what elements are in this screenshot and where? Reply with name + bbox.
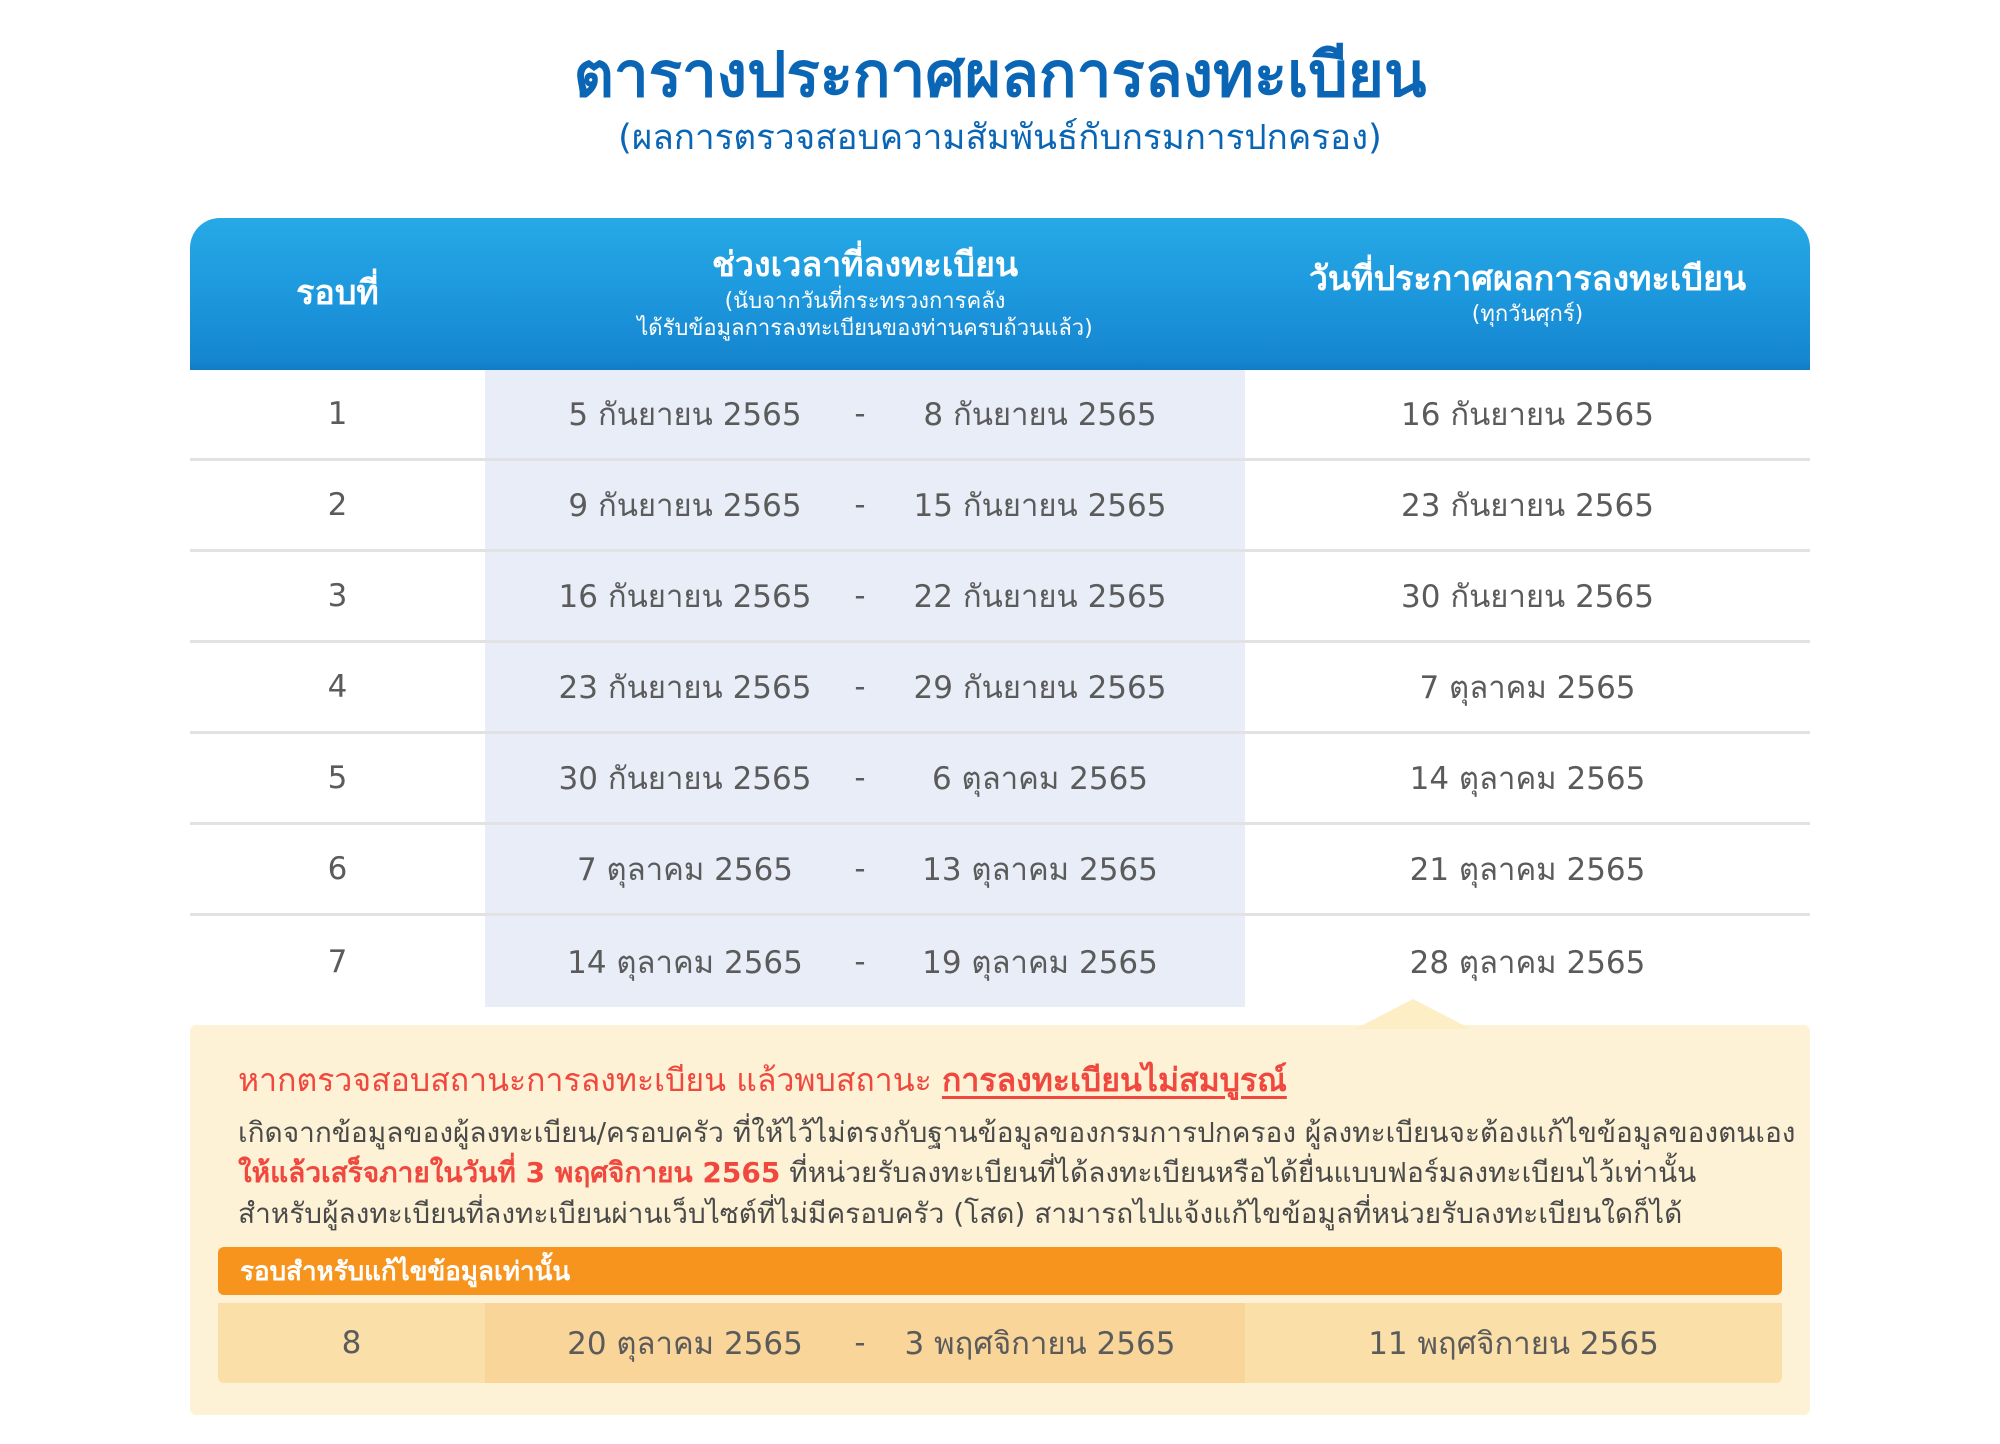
row-date-from: 5 กันยายน 2565: [540, 389, 830, 439]
row-date-to: 15 กันยายน 2565: [890, 480, 1190, 530]
row-announce-date: 30 กันยายน 2565: [1245, 571, 1810, 621]
row-round-number: 5: [190, 760, 485, 796]
callout-headline-emphasis: การลงทะเบียนไม่สมบูรณ์: [942, 1061, 1287, 1099]
row-dash: -: [830, 396, 890, 432]
column-header-round: รอบที่: [190, 273, 485, 314]
row-announce-date: 21 ตุลาคม 2565: [1245, 844, 1810, 894]
row-date-from: 7 ตุลาคม 2565: [540, 844, 830, 894]
row-date-from: 23 กันยายน 2565: [540, 662, 830, 712]
row-round-number: 7: [190, 944, 485, 980]
table-row-8: 8 20 ตุลาคม 2565 - 3 พฤศจิกายน 2565 11 พ…: [218, 1303, 1782, 1383]
row-period: 5 กันยายน 2565-8 กันยายน 2565: [485, 389, 1245, 439]
row-date-to: 6 ตุลาคม 2565: [890, 753, 1190, 803]
row-announce-date: 7 ตุลาคม 2565: [1245, 662, 1810, 712]
column-header-announce-label: วันที่ประกาศผลการลงทะเบียน: [1251, 259, 1804, 300]
row8-period: 20 ตุลาคม 2565 - 3 พฤศจิกายน 2565: [485, 1318, 1245, 1368]
column-header-period-note-line2: ได้รับข้อมูลการลงทะเบียนของท่านครบถ้วนแล…: [491, 316, 1239, 343]
row-date-to: 19 ตุลาคม 2565: [890, 937, 1190, 987]
column-header-period-label: ช่วงเวลาที่ลงทะเบียน: [491, 245, 1239, 286]
row8-date-from: 20 ตุลาคม 2565: [540, 1318, 830, 1368]
registration-schedule-infographic: ตารางประกาศผลการลงทะเบียน (ผลการตรวจสอบค…: [0, 0, 2000, 1444]
row-round-number: 4: [190, 669, 485, 705]
row-round-number: 2: [190, 487, 485, 523]
table-row: 423 กันยายน 2565-29 กันยายน 25657 ตุลาคม…: [190, 643, 1810, 734]
row-announce-date: 23 กันยายน 2565: [1245, 480, 1810, 530]
correction-round-banner-label: รอบสำหรับแก้ไขข้อมูลเท่านั้น: [240, 1251, 570, 1292]
callout-body-line-3: สำหรับผู้ลงทะเบียนที่ลงทะเบียนผ่านเว็บไซ…: [238, 1194, 1778, 1234]
table-header-row: รอบที่ ช่วงเวลาที่ลงทะเบียน (นับจากวันที…: [190, 218, 1810, 370]
row-dash: -: [830, 669, 890, 705]
column-header-period-note-line1: (นับจากวันที่กระทรวงการคลัง: [491, 289, 1239, 316]
row8-date-to: 3 พฤศจิกายน 2565: [890, 1318, 1190, 1368]
row-dash: -: [830, 851, 890, 887]
table-row: 714 ตุลาคม 2565-19 ตุลาคม 256528 ตุลาคม …: [190, 916, 1810, 1007]
row-period: 16 กันยายน 2565-22 กันยายน 2565: [485, 571, 1245, 621]
table-row: 67 ตุลาคม 2565-13 ตุลาคม 256521 ตุลาคม 2…: [190, 825, 1810, 916]
callout-body-line-2-rest: ที่หน่วยรับลงทะเบียนที่ได้ลงทะเบียนหรือไ…: [780, 1156, 1696, 1189]
table-body: 15 กันยายน 2565-8 กันยายน 256516 กันยายน…: [190, 370, 1810, 1007]
row-period: 14 ตุลาคม 2565-19 ตุลาคม 2565: [485, 937, 1245, 987]
table-row: 316 กันยายน 2565-22 กันยายน 256530 กันยา…: [190, 552, 1810, 643]
row-period: 23 กันยายน 2565-29 กันยายน 2565: [485, 662, 1245, 712]
callout-deadline-emphasis: ให้แล้วเสร็จภายในวันที่ 3 พฤศจิกายน 2565: [238, 1156, 780, 1189]
correction-round-banner: รอบสำหรับแก้ไขข้อมูลเท่านั้น: [218, 1247, 1782, 1295]
column-header-period: ช่วงเวลาที่ลงทะเบียน (นับจากวันที่กระทรว…: [485, 245, 1245, 342]
row-date-from: 14 ตุลาคม 2565: [540, 937, 830, 987]
column-header-announce: วันที่ประกาศผลการลงทะเบียน (ทุกวันศุกร์): [1245, 259, 1810, 329]
row-date-to: 29 กันยายน 2565: [890, 662, 1190, 712]
callout-headline: หากตรวจสอบสถานะการลงทะเบียน แล้วพบสถานะ …: [238, 1055, 1287, 1106]
row-date-to: 8 กันยายน 2565: [890, 389, 1190, 439]
callout-headline-prefix: หากตรวจสอบสถานะการลงทะเบียน แล้วพบสถานะ: [238, 1061, 942, 1099]
row-dash: -: [830, 944, 890, 980]
row-date-from: 16 กันยายน 2565: [540, 571, 830, 621]
schedule-table: รอบที่ ช่วงเวลาที่ลงทะเบียน (นับจากวันที…: [190, 218, 1810, 1007]
column-header-announce-note: (ทุกวันศุกร์): [1251, 302, 1804, 329]
row-date-to: 13 ตุลาคม 2565: [890, 844, 1190, 894]
row-dash: -: [830, 487, 890, 523]
row-round-number: 3: [190, 578, 485, 614]
callout-pointer-triangle: [1355, 999, 1471, 1029]
row-date-from: 9 กันยายน 2565: [540, 480, 830, 530]
row-period: 9 กันยายน 2565-15 กันยายน 2565: [485, 480, 1245, 530]
page-title: ตารางประกาศผลการลงทะเบียน: [0, 38, 2000, 111]
row-dash: -: [830, 578, 890, 614]
table-row: 15 กันยายน 2565-8 กันยายน 256516 กันยายน…: [190, 370, 1810, 461]
page-subtitle: (ผลการตรวจสอบความสัมพันธ์กับกรมการปกครอง…: [0, 117, 2000, 159]
row8-dash: -: [830, 1325, 890, 1361]
column-header-announce-note-line1: (ทุกวันศุกร์): [1251, 302, 1804, 329]
row-round-number: 6: [190, 851, 485, 887]
row8-round-number: 8: [218, 1325, 485, 1361]
row-announce-date: 28 ตุลาคม 2565: [1245, 937, 1810, 987]
title-block: ตารางประกาศผลการลงทะเบียน (ผลการตรวจสอบค…: [0, 38, 2000, 159]
callout-body-line-2: ให้แล้วเสร็จภายในวันที่ 3 พฤศจิกายน 2565…: [238, 1153, 1778, 1193]
row-date-from: 30 กันยายน 2565: [540, 753, 830, 803]
row-announce-date: 16 กันยายน 2565: [1245, 389, 1810, 439]
column-header-round-label: รอบที่: [196, 273, 479, 314]
row-date-to: 22 กันยายน 2565: [890, 571, 1190, 621]
row-round-number: 1: [190, 396, 485, 432]
row8-announce-date: 11 พฤศจิกายน 2565: [1245, 1318, 1782, 1368]
row-dash: -: [830, 760, 890, 796]
callout-body-line-1: เกิดจากข้อมูลของผู้ลงทะเบียน/ครอบครัว ที…: [238, 1113, 1778, 1153]
row-period: 7 ตุลาคม 2565-13 ตุลาคม 2565: [485, 844, 1245, 894]
incomplete-registration-callout: หากตรวจสอบสถานะการลงทะเบียน แล้วพบสถานะ …: [190, 1025, 1810, 1415]
row-announce-date: 14 ตุลาคม 2565: [1245, 753, 1810, 803]
column-header-period-note: (นับจากวันที่กระทรวงการคลัง ได้รับข้อมูล…: [491, 289, 1239, 343]
table-row: 530 กันยายน 2565-6 ตุลาคม 256514 ตุลาคม …: [190, 734, 1810, 825]
row-period: 30 กันยายน 2565-6 ตุลาคม 2565: [485, 753, 1245, 803]
callout-body: เกิดจากข้อมูลของผู้ลงทะเบียน/ครอบครัว ที…: [238, 1113, 1778, 1234]
table-row: 29 กันยายน 2565-15 กันยายน 256523 กันยาย…: [190, 461, 1810, 552]
